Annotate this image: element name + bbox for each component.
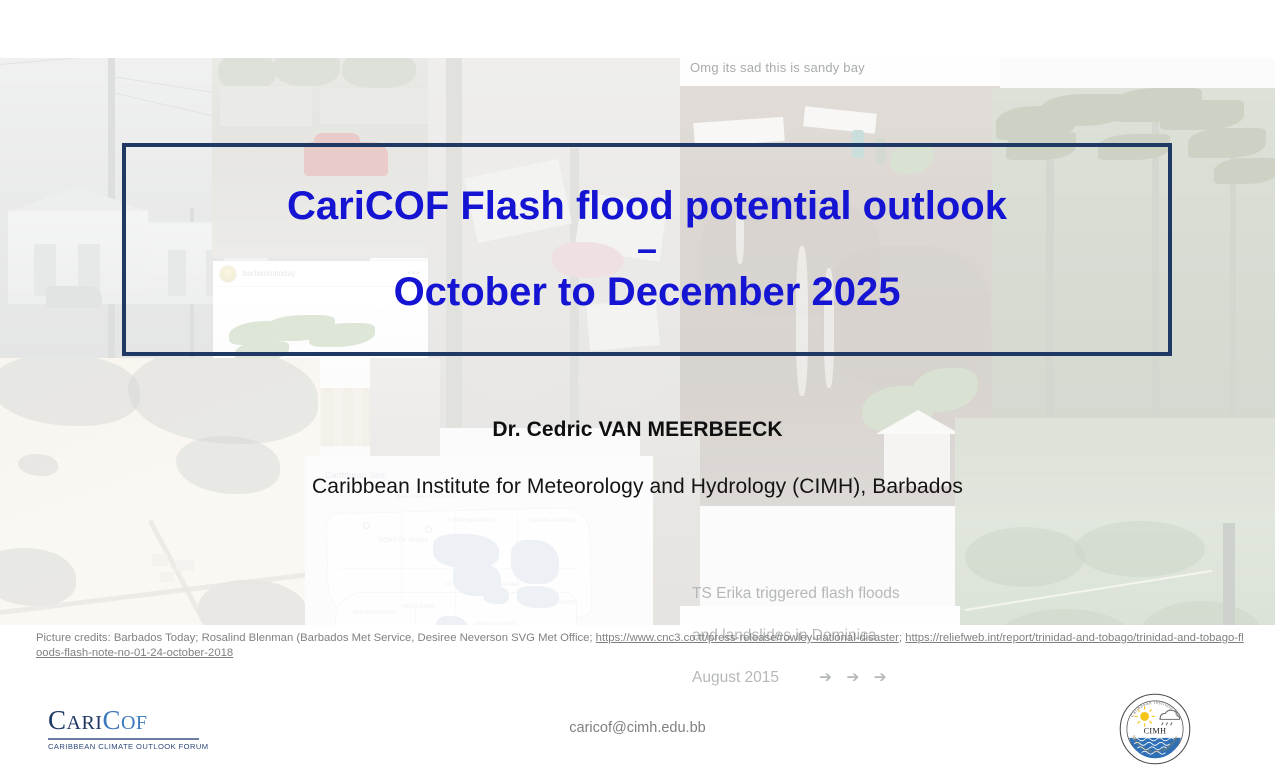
collage-photo-green-valley [955, 513, 1275, 625]
map-city-label: PORT OF SPAIN [379, 538, 427, 544]
map-region-label: SANGRE GRANDE [529, 518, 576, 524]
map-region-label: PRINCES TOWN [475, 622, 516, 625]
caricof-wordmark: CARICOF [48, 706, 209, 737]
caricof-letter-c2: C [102, 705, 121, 735]
map-region-label: SAN FERNANDO [353, 610, 395, 616]
presenter-affiliation: Caribbean Institute for Meteorology and … [0, 475, 1275, 499]
picture-credits-prefix: Picture credits: Barbados Today; Rosalin… [36, 632, 596, 644]
page-title-dash: – [637, 231, 657, 268]
credits-link-cnc3[interactable]: https://www.cnc3.co.tt/press-release/row… [596, 632, 899, 644]
map-region-label: MAYARO RIO CLARO [523, 600, 576, 606]
cimh-acronym: CIMH [1144, 726, 1167, 735]
caption-dominica-line-1: TS Erika triggered flash floods [692, 583, 900, 604]
map-region-label: CHAGUANAS [401, 604, 434, 610]
picture-credits: Picture credits: Barbados Today; Rosalin… [36, 631, 1244, 661]
caricof-divider [48, 738, 199, 740]
page-title-line-2: October to December 2025 [394, 272, 901, 313]
caption-dominica-line-3: August 2015 [692, 669, 779, 686]
caricof-logo: CARICOF CARIBBEAN CLIMATE OUTLOOK FORUM [48, 706, 209, 751]
map-region-label: COUVA TABAQUITE TALPARO [445, 582, 520, 588]
slide-root: barbadostoday ••• [0, 0, 1275, 772]
cimh-logo: CIMH Caribbean Institute for Meteorology… [1118, 692, 1192, 766]
caricof-letters-of: OF [121, 712, 148, 734]
caricof-letters-ari: ARI [67, 712, 103, 734]
cimh-seal-icon: CIMH Caribbean Institute for Meteorology… [1118, 692, 1192, 766]
arrow-icon-group: ➔ ➔ ➔ [819, 667, 892, 688]
presenter-block: Dr. Cedric VAN MEERBEECK Caribbean Insti… [0, 418, 1275, 499]
map-region-label: TUNAPUNA PIARCO [447, 518, 498, 524]
caption-sandy-bay: Omg its sad this is sandy bay [690, 60, 865, 75]
caricof-letter-c: C [48, 705, 67, 735]
presenter-name: Dr. Cedric VAN MEERBEECK [0, 418, 1275, 442]
page-title-line-1: CariCOF Flash flood potential outlook [287, 186, 1007, 227]
title-box: CariCOF Flash flood potential outlook – … [122, 143, 1172, 356]
caricof-tagline: CARIBBEAN CLIMATE OUTLOOK FORUM [48, 742, 209, 751]
